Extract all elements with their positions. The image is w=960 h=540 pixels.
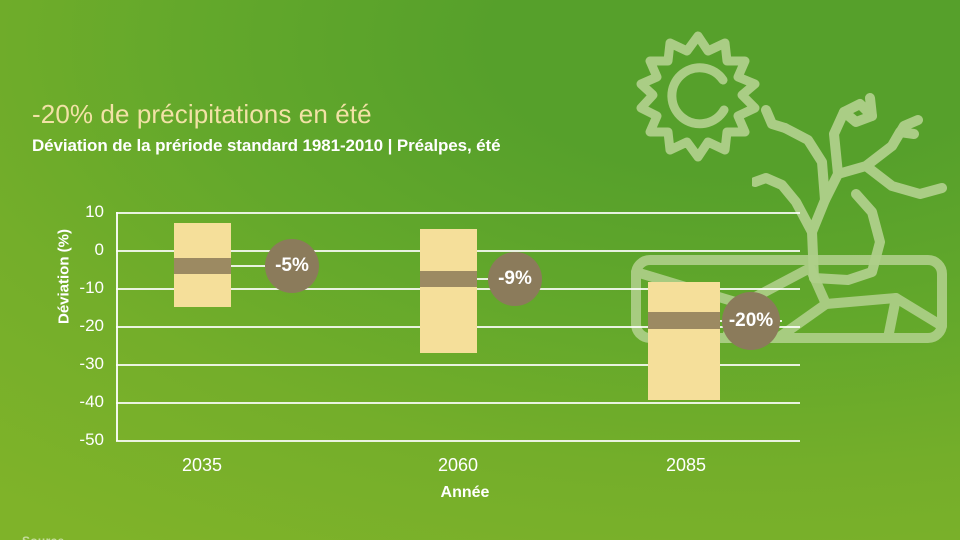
median-callout-2060: -9% [488, 252, 542, 306]
x-tick-2085: 2085 [626, 455, 746, 476]
y-axis-label: Déviation (%) [56, 197, 73, 357]
median-band-2085 [648, 312, 720, 329]
gridline-10 [116, 212, 800, 214]
chart-area: 10 0 -10 -20 -30 -40 -50 Déviation (%) -… [0, 0, 960, 540]
y-tick-m30: -30 [48, 354, 104, 374]
footer-cut-text: Source [22, 534, 442, 540]
median-callout-2035: -5% [265, 239, 319, 293]
range-box-2060 [420, 229, 477, 353]
gridline-m50 [116, 440, 800, 442]
median-band-2060 [420, 271, 477, 287]
median-callout-2085: -20% [722, 292, 780, 350]
x-axis-label: Année [0, 484, 930, 502]
y-axis-line [116, 212, 118, 441]
y-tick-m40: -40 [48, 392, 104, 412]
range-box-2085 [648, 282, 720, 400]
y-tick-m50: -50 [48, 430, 104, 450]
x-tick-2035: 2035 [142, 455, 262, 476]
x-tick-2060: 2060 [398, 455, 518, 476]
median-band-2035 [174, 258, 231, 274]
infographic-canvas: -20% de précipitations en été Déviation … [0, 0, 960, 540]
gridline-m40 [116, 402, 800, 404]
